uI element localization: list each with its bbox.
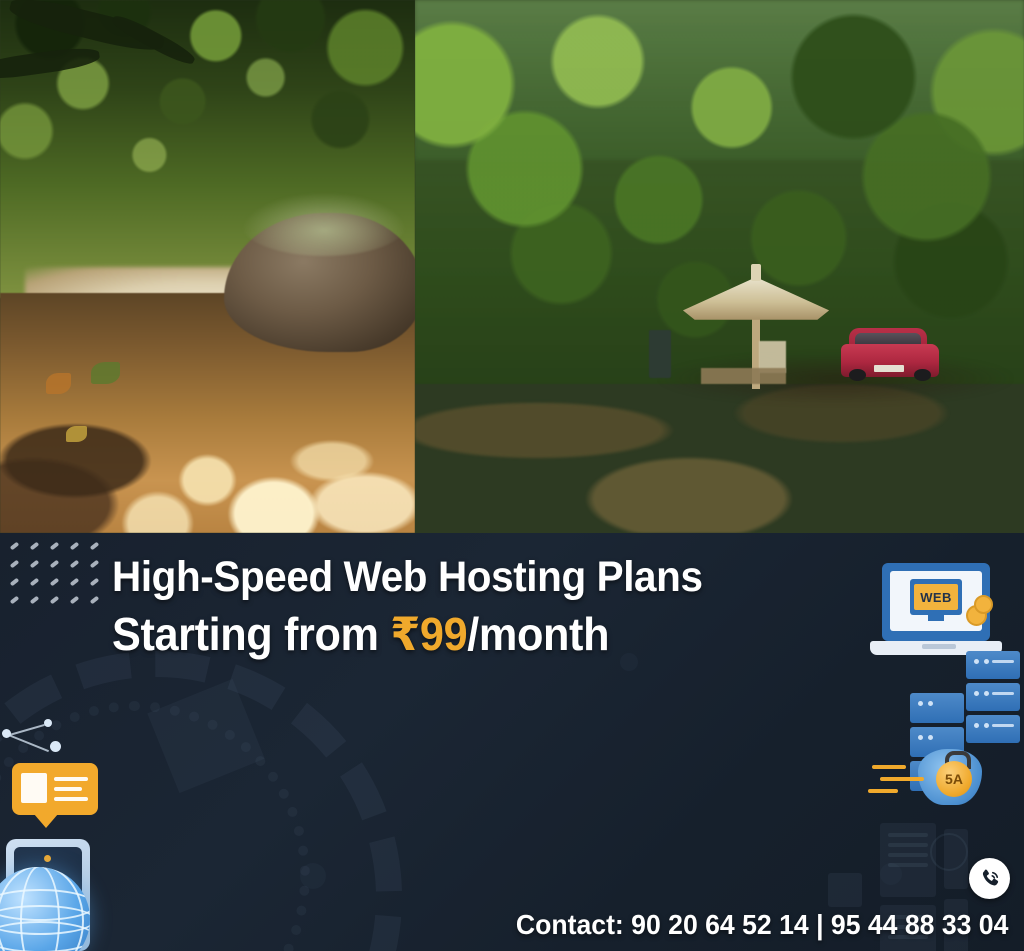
hosting-promo-banner: High-Speed Web Hosting Plans Starting fr…: [0, 533, 1024, 951]
coin-icon: [974, 595, 993, 614]
headline-suffix: /month: [467, 608, 609, 660]
security-badge: 5A: [936, 761, 972, 797]
server-rack-unit: [966, 715, 1020, 743]
chat-bubble-bar: [54, 787, 82, 791]
chat-bubble-icon: [12, 763, 98, 815]
advertisement-screenshot: High-Speed Web Hosting Plans Starting fr…: [0, 0, 1024, 951]
dot-decoration: [300, 863, 326, 889]
server-watermark: [828, 873, 862, 907]
trash-bin: [649, 330, 671, 378]
headline-line-1: High-Speed Web Hosting Plans: [112, 552, 855, 603]
headline-prefix: Starting from: [112, 608, 390, 660]
speed-line: [872, 765, 906, 769]
network-node: [44, 719, 52, 727]
promo-headline: High-Speed Web Hosting Plans Starting fr…: [112, 552, 902, 661]
forest-clearing-gazebo-photo: [415, 0, 1024, 533]
server-watermark-line: [888, 853, 928, 857]
web-label: WEB: [920, 590, 952, 605]
network-node: [50, 741, 61, 752]
hosting-illustration: WEB 5A: [866, 553, 1018, 813]
photo-strip: [0, 0, 1024, 533]
roadside-shrub: [91, 362, 120, 383]
car-licence-plate: [874, 365, 903, 371]
laptop-trackpad: [922, 644, 956, 649]
car-wheel: [849, 369, 866, 381]
car-wheel: [914, 369, 931, 381]
smartphone-camera-dot: [44, 855, 51, 862]
network-link: [6, 733, 49, 752]
server-watermark-line: [888, 843, 928, 847]
network-node: [2, 729, 11, 738]
chat-bubble-bar: [54, 797, 88, 801]
red-car: [841, 328, 938, 381]
server-rack-unit: [966, 683, 1020, 711]
security-badge-label: 5A: [945, 771, 963, 787]
forest-dirt-track-photo: [0, 0, 415, 533]
contact-line: Contact: 90 20 64 52 14 | 95 44 88 33 04: [516, 909, 1008, 941]
support-illustration: [0, 711, 160, 951]
dot-grid-decoration: [10, 544, 110, 616]
chat-bubble-lines: [21, 773, 47, 803]
price-value: ₹99: [390, 608, 467, 660]
network-link: [6, 724, 45, 737]
web-label-screen: WEB: [914, 584, 958, 610]
server-watermark: [944, 829, 968, 889]
headline-line-2: Starting from ₹99/month: [112, 607, 855, 661]
picnic-bench: [701, 368, 786, 384]
monitor-stand: [928, 615, 944, 621]
forest-treeline: [415, 0, 1024, 384]
speed-line: [868, 789, 898, 793]
fallen-leaf: [46, 373, 71, 394]
chat-bubble-bar: [54, 777, 88, 781]
server-rack-unit: [966, 651, 1020, 679]
speed-line: [880, 777, 924, 781]
monitor-icon: WEB: [910, 579, 962, 615]
server-watermark-line: [888, 833, 928, 837]
boulder-moss: [241, 192, 407, 256]
call-badge[interactable]: [969, 858, 1010, 899]
server-rack-unit: [910, 693, 964, 723]
umbrella-finial: [751, 264, 761, 281]
server-watermark-line: [888, 863, 928, 867]
globe-equator: [0, 905, 90, 935]
phone-call-icon: [977, 866, 1003, 892]
